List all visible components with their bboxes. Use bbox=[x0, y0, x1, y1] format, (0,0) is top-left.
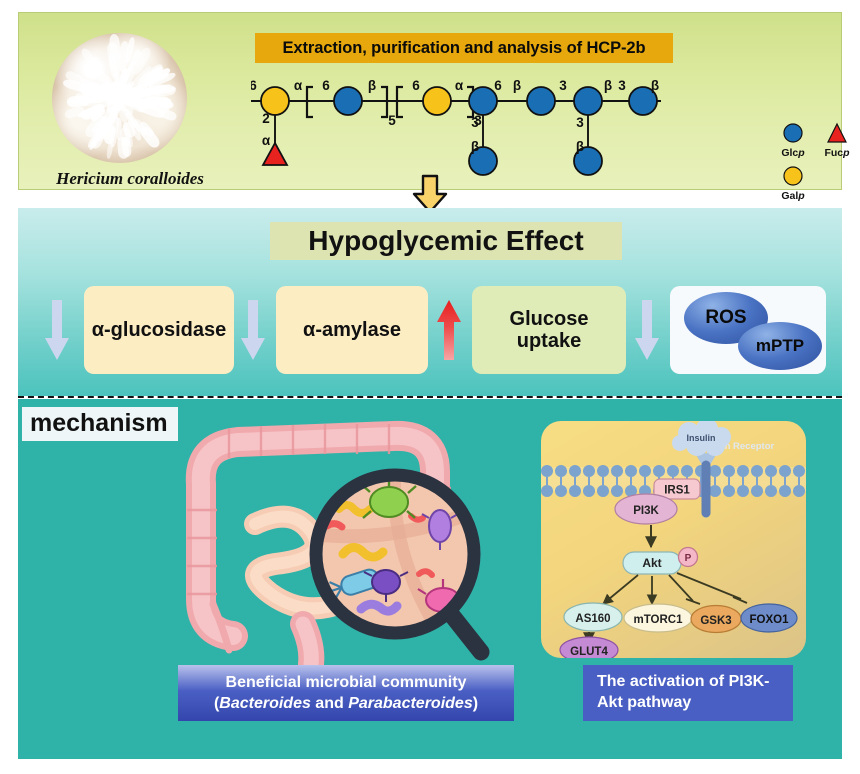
node-foxo1: FOXO1 bbox=[750, 614, 790, 626]
caption-microbiome-line1: Beneficial microbial community bbox=[226, 674, 467, 691]
svg-text:2: 2 bbox=[262, 111, 270, 126]
svg-text:Fucp: Fucp bbox=[824, 147, 850, 159]
down-arrow-icon-glucosidase bbox=[44, 296, 70, 364]
svg-text:Galp: Galp bbox=[781, 190, 805, 202]
node-mtorc1: mTORC1 bbox=[634, 614, 684, 626]
node-glut4: GLUT4 bbox=[570, 646, 608, 658]
up-arrow-icon-glucose-uptake bbox=[436, 296, 462, 364]
svg-text:Glcp: Glcp bbox=[781, 147, 805, 159]
extraction-panel: Hericium coralloides Extraction, purific… bbox=[18, 12, 842, 190]
down-arrow-icon-amylase bbox=[240, 296, 266, 364]
svg-text:β: β bbox=[471, 139, 479, 154]
down-arrow-icon-ros bbox=[634, 296, 660, 364]
caption-microbiome-line2: (Bacteroides and Parabacteroides) bbox=[214, 695, 478, 712]
specimen-label: Hericium coralloides bbox=[45, 169, 215, 189]
svg-text:α: α bbox=[294, 78, 303, 93]
effect-box-amylase: α-amylase bbox=[276, 286, 428, 374]
node-pi3k: PI3K bbox=[633, 505, 659, 517]
svg-text:6: 6 bbox=[412, 78, 420, 93]
svg-text:5: 5 bbox=[388, 113, 396, 128]
svg-text:β: β bbox=[604, 78, 612, 93]
svg-text:3: 3 bbox=[559, 78, 567, 93]
caption-pathway-line1: The activation of PI3K- bbox=[597, 673, 769, 690]
insulin-label: Insulin bbox=[687, 433, 716, 443]
intestine-with-magnifier-icon bbox=[143, 414, 513, 669]
svg-text:β: β bbox=[513, 78, 521, 93]
node-akt: Akt bbox=[642, 556, 661, 570]
node-irs1: IRS1 bbox=[664, 485, 690, 497]
svg-text:α: α bbox=[262, 133, 271, 148]
effect-box-glucosidase: α-glucosidase bbox=[84, 286, 234, 374]
taxon-parabacteroides: Parabacteroides bbox=[348, 695, 473, 712]
caption-pi3k-akt: The activation of PI3K- Akt pathway bbox=[583, 665, 793, 721]
mechanism-panel: mechanism bbox=[18, 399, 842, 759]
caption-pathway-line2: Akt pathway bbox=[597, 694, 691, 711]
effect-box-glucose-uptake-label: Glucose uptake bbox=[510, 308, 589, 353]
svg-text:β: β bbox=[368, 78, 376, 93]
mechanism-divider bbox=[18, 396, 842, 398]
taxon-bacteroides: Bacteroides bbox=[219, 695, 311, 712]
pi3k-akt-pathway-diagram: Insulin Receptor Insulin IRS1 PI3K bbox=[541, 421, 806, 658]
svg-text:α: α bbox=[455, 78, 464, 93]
svg-text:β: β bbox=[651, 78, 659, 93]
effect-box-glucose-uptake: Glucose uptake bbox=[472, 286, 626, 374]
mushroom-photo bbox=[52, 33, 187, 163]
effect-box-ros-mptp: ROS mPTP bbox=[670, 286, 826, 374]
effect-title: Hypoglycemic Effect bbox=[270, 222, 622, 260]
glucose-line1: Glucose bbox=[510, 308, 589, 330]
node-as160: AS160 bbox=[575, 613, 610, 625]
node-phospho: P bbox=[685, 553, 692, 564]
svg-text:6: 6 bbox=[494, 78, 502, 93]
caption-microbiome: Beneficial microbial community (Bacteroi… bbox=[178, 665, 514, 721]
glycan-legend: Glcp Fucp Galp bbox=[775, 121, 860, 203]
svg-text:3: 3 bbox=[576, 115, 584, 130]
svg-text:3: 3 bbox=[471, 115, 479, 130]
node-gsk3: GSK3 bbox=[700, 615, 731, 627]
glycan-structure-diagram: 6 α 6 β 5 6 α 3 6 β 3 β 3 β 2 α 3 β 3 β bbox=[251, 75, 661, 185]
svg-text:6: 6 bbox=[251, 78, 257, 93]
svg-text:3: 3 bbox=[618, 78, 626, 93]
svg-text:6: 6 bbox=[322, 78, 330, 93]
hypoglycemic-effect-panel: Hypoglycemic Effect α-glucosidase α-amyl… bbox=[18, 208, 842, 396]
extraction-title: Extraction, purification and analysis of… bbox=[255, 33, 673, 63]
svg-text:β: β bbox=[576, 139, 584, 154]
bubble-mptp: mPTP bbox=[738, 322, 822, 370]
glucose-line2: uptake bbox=[517, 330, 581, 352]
